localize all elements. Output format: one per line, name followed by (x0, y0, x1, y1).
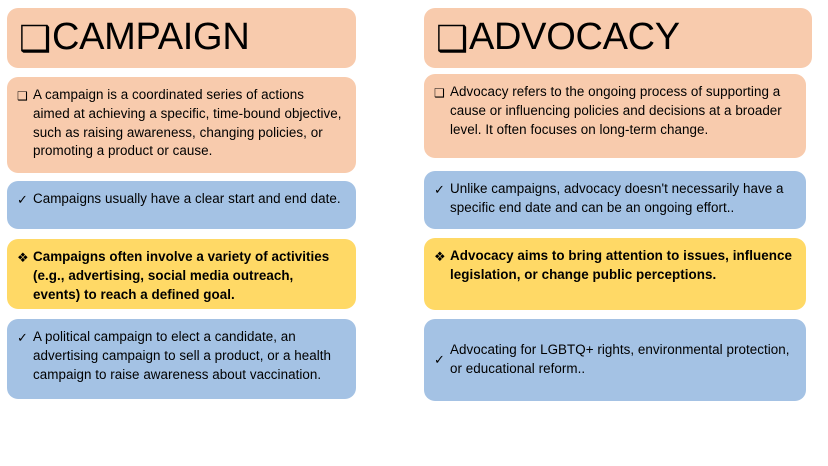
card-campaign-duration: ✓ Campaigns usually have a clear start a… (7, 181, 356, 229)
check-bullet-icon: ✓ (17, 328, 33, 348)
square-bullet-icon: ❑ (17, 86, 33, 106)
square-bullet-icon: ❑ (19, 18, 51, 59)
check-bullet-icon: ✓ (434, 350, 450, 370)
card-advocacy-examples-text: Advocating for LGBTQ+ rights, environmen… (450, 341, 794, 379)
card-advocacy-definition: ❑ Advocacy refers to the ongoing process… (424, 74, 806, 158)
card-advocacy-aims-text: Advocacy aims to bring attention to issu… (450, 247, 794, 285)
card-advocacy-aims: ❖ Advocacy aims to bring attention to is… (424, 238, 806, 310)
card-advocacy-examples: ✓ Advocating for LGBTQ+ rights, environm… (424, 319, 806, 401)
card-campaign-definition-text: A campaign is a coordinated series of ac… (33, 86, 344, 161)
card-campaign-duration-text: Campaigns usually have a clear start and… (33, 190, 344, 209)
square-bullet-icon: ❑ (434, 83, 450, 103)
page-title: ADVOCACY (469, 16, 680, 58)
card-campaign-examples: ✓ A political campaign to elect a candid… (7, 319, 356, 399)
check-bullet-icon: ✓ (17, 190, 33, 210)
campaign-header-card: ❑CAMPAIGN (7, 8, 356, 68)
campaign-header-text: ❑CAMPAIGN (7, 15, 259, 61)
page-title: CAMPAIGN (52, 16, 249, 58)
card-campaign-examples-text: A political campaign to elect a candidat… (33, 328, 344, 384)
comparison-slide: ❑CAMPAIGN ❑ A campaign is a coordinated … (0, 0, 828, 466)
square-bullet-icon: ❑ (436, 18, 468, 59)
advocacy-header-text: ❑ADVOCACY (424, 15, 690, 61)
advocacy-header-card: ❑ADVOCACY (424, 8, 812, 68)
card-advocacy-definition-text: Advocacy refers to the ongoing process o… (450, 83, 794, 139)
card-campaign-definition: ❑ A campaign is a coordinated series of … (7, 77, 356, 173)
diamond-bullet-icon: ❖ (17, 248, 33, 268)
card-campaign-activities-text: Campaigns often involve a variety of act… (33, 248, 344, 304)
diamond-bullet-icon: ❖ (434, 247, 450, 267)
card-advocacy-duration: ✓ Unlike campaigns, advocacy doesn't nec… (424, 171, 806, 229)
check-bullet-icon: ✓ (434, 180, 450, 200)
card-campaign-activities: ❖ Campaigns often involve a variety of a… (7, 239, 356, 309)
card-advocacy-duration-text: Unlike campaigns, advocacy doesn't neces… (450, 180, 794, 218)
